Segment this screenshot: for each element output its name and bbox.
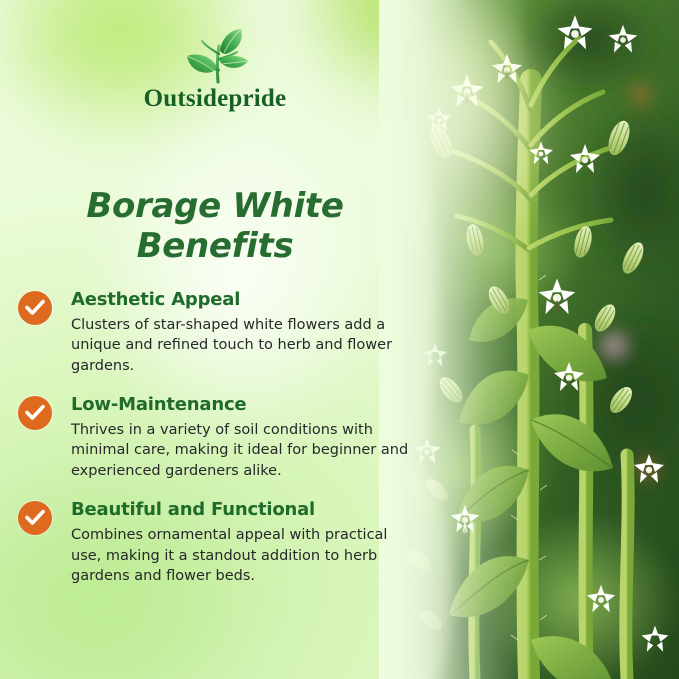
check-circle-icon [18,501,52,535]
benefit-item: Aesthetic Appeal Clusters of star-shaped… [18,289,418,376]
brand-logo[interactable]: Outsidepride [0,28,430,111]
benefit-body: Clusters of star-shaped white flowers ad… [71,315,418,377]
benefit-item: Beautiful and Functional Combines orname… [18,499,418,586]
page-title: Borage White Benefits [0,187,430,267]
checkmark-glyph [25,404,45,422]
check-circle-icon [18,291,52,325]
leaf-sprout-icon [178,28,252,84]
benefit-item: Low-Maintenance Thrives in a variety of … [18,394,418,481]
checkmark-glyph [25,509,45,527]
check-circle-icon [18,396,52,430]
benefits-list: Aesthetic Appeal Clusters of star-shaped… [18,289,418,587]
benefit-body: Thrives in a variety of soil conditions … [71,420,418,482]
title-line-1: Borage White [86,186,343,226]
benefit-body: Combines ornamental appeal with practica… [71,525,418,587]
title-line-2: Benefits [0,227,430,267]
benefit-heading: Beautiful and Functional [71,499,418,522]
brand-name: Outsidepride [0,86,430,111]
benefit-heading: Aesthetic Appeal [71,289,418,312]
benefit-heading: Low-Maintenance [71,394,418,417]
checkmark-glyph [25,299,45,317]
promo-card: Outsidepride Borage White Benefits Aesth… [0,0,679,679]
